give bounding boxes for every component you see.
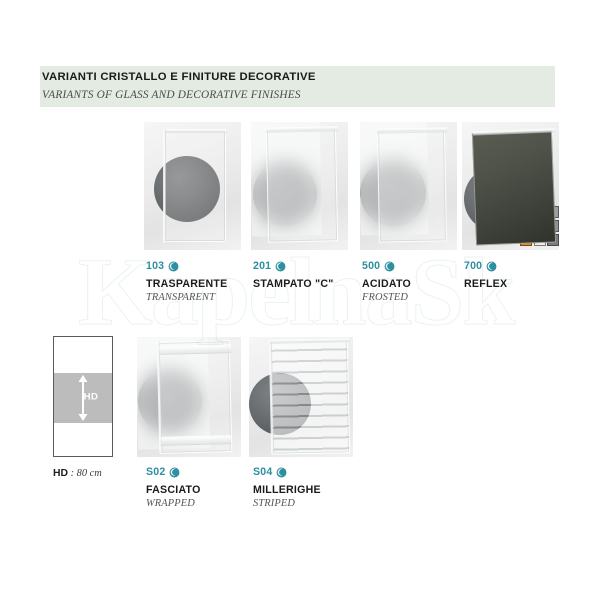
- finish-name: MILLERIGHE: [253, 484, 321, 496]
- finish-swatch-icon: [168, 261, 179, 272]
- glass-photo-transparent: [144, 122, 241, 250]
- sample-image-fasciato[interactable]: [137, 337, 241, 457]
- code-row: 201: [253, 260, 334, 273]
- hd-dimension-diagram: HD: [53, 336, 113, 457]
- page-title: VARIANTI CRISTALLO E FINITURE DECORATIVE: [42, 71, 316, 83]
- finish-swatch-icon: [169, 467, 180, 478]
- label-fasciato: S02 FASCIATO WRAPPED: [146, 466, 201, 509]
- hd-inner-label: HD: [84, 391, 99, 402]
- finish-swatch-icon: [384, 261, 395, 272]
- hd-caption-value: 80 cm: [77, 468, 102, 479]
- finish-translation: FROSTED: [362, 292, 411, 303]
- finish-code: 201: [253, 260, 271, 273]
- code-row: 500: [362, 260, 411, 273]
- code-row: S04: [253, 466, 321, 479]
- pane-left-edge: [163, 129, 166, 243]
- finish-name: ACIDATO: [362, 278, 411, 290]
- finish-translation: STRIPED: [253, 498, 321, 509]
- finish-code: S02: [146, 466, 165, 479]
- glass-pane: [377, 128, 447, 242]
- label-stampato-c: 201 STAMPATO "C": [253, 260, 334, 290]
- finish-code: 103: [146, 260, 164, 273]
- wrap-band-top: [159, 344, 231, 355]
- glass-photo-reflex: [462, 122, 559, 250]
- label-reflex: 700 REFLEX: [464, 260, 507, 290]
- label-trasparente: 103 TRASPARENTE TRANSPARENT: [146, 260, 227, 303]
- glass-photo-striped: [249, 337, 353, 457]
- glass-pane: [270, 339, 350, 455]
- label-acidato: 500 ACIDATO FROSTED: [362, 260, 411, 303]
- glass-photo-frosted: [360, 122, 457, 250]
- finish-translation: TRANSPARENT: [146, 292, 227, 303]
- hd-caption: HD : 80 cm: [53, 468, 102, 479]
- sample-image-reflex[interactable]: [462, 122, 559, 250]
- finish-code: 700: [464, 260, 482, 273]
- finish-swatch-icon: [276, 467, 287, 478]
- finish-translation: WRAPPED: [146, 498, 201, 509]
- reflex-mirror-pane: [472, 131, 556, 246]
- finish-name: STAMPATO "C": [253, 278, 334, 290]
- pane-top-edge: [163, 129, 227, 133]
- sample-image-acidato[interactable]: [360, 122, 457, 250]
- catalog-page: VARIANTI CRISTALLO E FINITURE DECORATIVE…: [0, 0, 600, 600]
- finish-code: 500: [362, 260, 380, 273]
- label-millerighe: S04 MILLERIGHE STRIPED: [253, 466, 321, 509]
- finish-name: FASCIATO: [146, 484, 201, 496]
- hd-caption-code: HD: [53, 468, 68, 479]
- glass-photo-printed: [251, 122, 348, 250]
- wrap-band-bottom: [159, 435, 231, 446]
- glass-pane: [164, 130, 226, 242]
- finish-name: REFLEX: [464, 278, 507, 290]
- sample-image-stampato-c[interactable]: [251, 122, 348, 250]
- finish-name: TRASPARENTE: [146, 278, 227, 290]
- sample-image-millerighe[interactable]: [249, 337, 353, 457]
- finish-swatch-icon: [486, 261, 497, 272]
- finish-swatch-icon: [275, 261, 286, 272]
- code-row: S02: [146, 466, 201, 479]
- hd-caption-separator: :: [68, 468, 77, 479]
- sample-image-trasparente[interactable]: [144, 122, 241, 250]
- page-subtitle: VARIANTS OF GLASS AND DECORATIVE FINISHE…: [42, 89, 301, 101]
- glass-photo-wrapped: [137, 337, 241, 457]
- code-row: 700: [464, 260, 507, 273]
- glass-pane: [266, 127, 338, 242]
- code-row: 103: [146, 260, 227, 273]
- finish-code: S04: [253, 466, 272, 479]
